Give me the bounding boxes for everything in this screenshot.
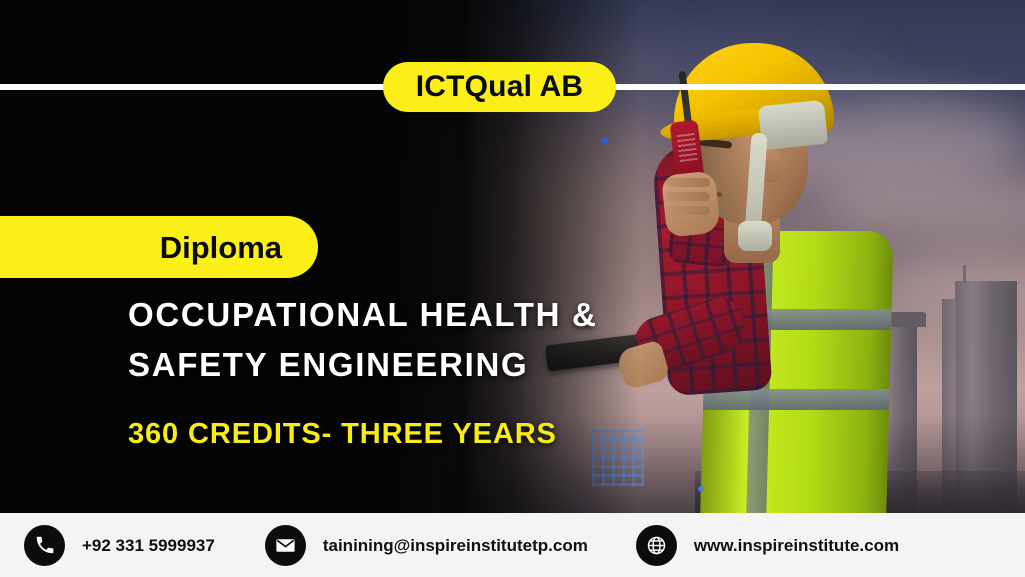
contact-phone[interactable]: +92 331 5999937 xyxy=(24,513,215,577)
qualification-level-pill: Diploma xyxy=(0,216,318,278)
brand-badge: ICTQual AB xyxy=(383,62,616,112)
course-title-line-1: OCCUPATIONAL HEALTH & xyxy=(128,290,748,340)
contact-footer: +92 331 5999937 tainining@inspireinstitu… xyxy=(0,513,1025,577)
blue-light-dot xyxy=(698,486,704,492)
credits-duration-label: 360 CREDITS- THREE YEARS xyxy=(128,420,557,449)
hard-hat-suspension xyxy=(758,100,828,151)
course-banner: ICTQual AB Diploma OCCUPATIONAL HEALTH &… xyxy=(0,0,1025,577)
website-url: www.inspireinstitute.com xyxy=(694,537,899,554)
qualification-level-label: Diploma xyxy=(160,232,282,263)
email-address: tainining@inspireinstitutetp.com xyxy=(323,537,588,554)
finger xyxy=(666,178,710,187)
vest-reflective-stripe xyxy=(703,389,890,410)
worker-figure xyxy=(612,43,942,513)
brand-badge-label: ICTQual AB xyxy=(416,72,584,102)
finger xyxy=(666,206,710,215)
phone-icon xyxy=(24,525,65,566)
contact-website[interactable]: www.inspireinstitute.com xyxy=(636,513,899,577)
chin-cup xyxy=(738,221,772,251)
finger xyxy=(666,192,710,201)
radio-speaker-grill xyxy=(676,130,698,162)
phone-number: +92 331 5999937 xyxy=(82,537,215,554)
course-title: OCCUPATIONAL HEALTH & SAFETY ENGINEERING xyxy=(128,290,748,390)
contact-email[interactable]: tainining@inspireinstitutetp.com xyxy=(265,513,588,577)
blue-light-dot xyxy=(601,137,608,144)
email-icon xyxy=(265,525,306,566)
course-title-line-2: SAFETY ENGINEERING xyxy=(128,340,748,390)
globe-icon xyxy=(636,525,677,566)
